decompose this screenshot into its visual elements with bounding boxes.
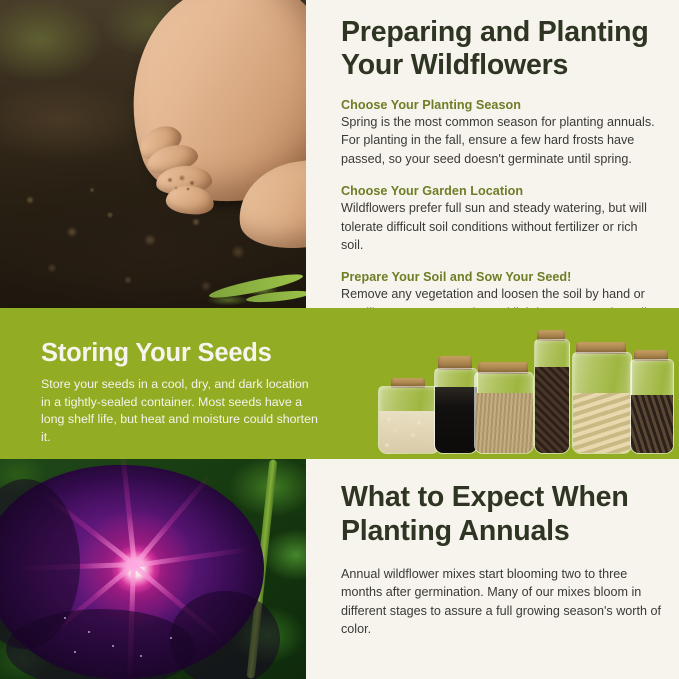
section-what-to-expect: What to Expect When Planting Annuals Ann… [0,459,679,679]
expect-title: What to Expect When Planting Annuals [341,480,661,548]
jar-glass [434,368,478,454]
block-garden-location: Choose Your Garden Location Wildflowers … [341,184,661,254]
jar-glass [534,339,570,454]
jar-glass [474,372,534,454]
subhead-garden-location: Choose Your Garden Location [341,184,661,198]
petal-ray [120,459,138,567]
seed-fill [379,411,439,453]
expect-text-column: What to Expect When Planting Annuals Ann… [341,480,661,639]
block-planting-season: Choose Your Planting Season Spring is th… [341,98,661,168]
petal-shadow [170,591,280,679]
dew-speck [64,617,66,619]
jar-pale-flakes [572,342,630,454]
body-garden-location: Wildflowers prefer full sun and steady w… [341,199,661,254]
jar-striped-seeds [630,350,672,454]
jar-glass [630,359,674,454]
jar-tan-grains [474,362,532,454]
jar-glass [572,352,632,454]
jar-white-beans [378,378,438,454]
jar-dark-flakes [534,330,568,454]
seed-fill [573,393,631,453]
preparing-text-column: Preparing and Planting Your Wildflowers … [341,16,661,341]
seed-jars-image [378,318,663,454]
expect-body: Annual wildflower mixes start blooming t… [341,565,661,639]
storing-text-column: Storing Your Seeds Store your seeds in a… [41,339,321,446]
hands-sowing-seeds-image [0,0,306,308]
preparing-title: Preparing and Planting Your Wildflowers [341,16,661,82]
seed-fill [631,395,673,453]
storing-body: Store your seeds in a cool, dry, and dar… [41,376,321,446]
dew-speck [170,637,172,639]
dew-speck [140,655,142,657]
subhead-prepare-soil: Prepare Your Soil and Sow Your Seed! [341,270,661,284]
jar-glass [378,386,440,454]
section-storing-your-seeds: Storing Your Seeds Store your seeds in a… [0,310,679,459]
seeds-in-hand [162,170,206,198]
infographic-page: Preparing and Planting Your Wildflowers … [0,0,679,679]
seed-fill [435,387,477,453]
seed-fill [475,393,533,453]
dew-speck [112,645,114,647]
storing-title: Storing Your Seeds [41,339,321,367]
section-preparing-and-planting: Preparing and Planting Your Wildflowers … [0,0,679,310]
jar-black-seeds [434,356,476,454]
petal-shadow [6,609,196,679]
morning-glory-image [0,459,306,679]
dew-speck [88,631,90,633]
dew-speck [74,651,76,653]
body-planting-season: Spring is the most common season for pla… [341,113,661,168]
seed-fill [535,367,569,453]
subhead-planting-season: Choose Your Planting Season [341,98,661,112]
